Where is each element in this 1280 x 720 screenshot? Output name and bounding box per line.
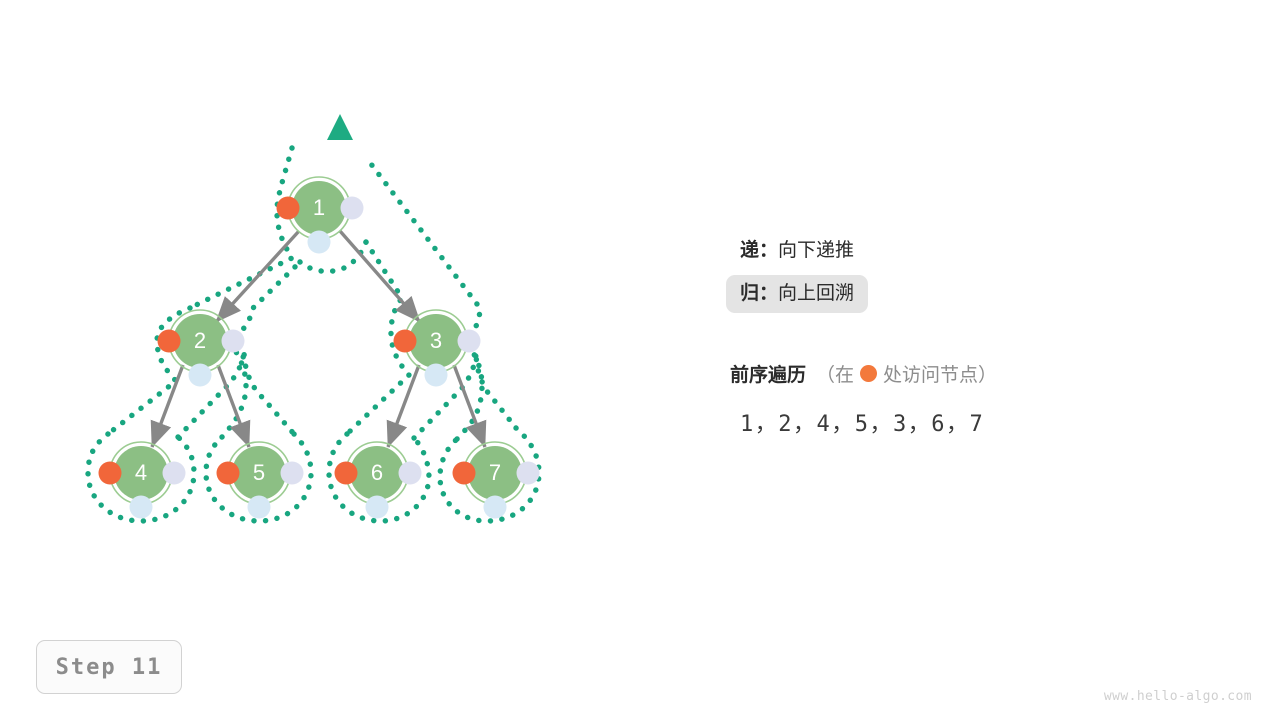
- right-dot-3: [458, 330, 481, 353]
- bottom-dot-3: [425, 364, 448, 387]
- legend-descend-text: 向下递推: [778, 240, 854, 261]
- legend-ascend-key: 归：: [740, 283, 778, 304]
- right-dot-5: [281, 462, 304, 485]
- visit-dot-6: [335, 462, 358, 485]
- visit-dot-3: [394, 330, 417, 353]
- bottom-dot-5: [248, 496, 271, 519]
- tree-node-5[interactable]: [217, 442, 304, 519]
- bottom-dot-6: [366, 496, 389, 519]
- legend-row-descend: 递：向下递推: [726, 232, 868, 270]
- traversal-panel: 前序遍历 （在 处访问节点） 1，2，4，5，3，6，7: [730, 360, 1160, 438]
- visit-dot-4: [99, 462, 122, 485]
- right-dot-6: [399, 462, 422, 485]
- right-dot-2: [222, 330, 245, 353]
- legend-panel: 递：向下递推 归：向上回溯: [726, 232, 1146, 313]
- visit-dot-1: [277, 197, 300, 220]
- bottom-dot-7: [484, 496, 507, 519]
- site-watermark: www.hello-algo.com: [1104, 689, 1252, 704]
- traversal-sequence: 1，2，4，5，3，6，7: [740, 406, 1160, 438]
- tree-nodes: [99, 177, 540, 519]
- bottom-dot-4: [130, 496, 153, 519]
- right-dot-7: [517, 462, 540, 485]
- right-dot-4: [163, 462, 186, 485]
- legend-descend-key: 递：: [740, 240, 778, 261]
- right-dot-1: [341, 197, 364, 220]
- legend-ascend-text: 向上回溯: [778, 283, 854, 304]
- tree-node-7[interactable]: [453, 442, 540, 519]
- visit-dot-icon: [860, 365, 877, 382]
- cursor-triangle-up-icon: [327, 114, 353, 140]
- tree-node-6[interactable]: [335, 442, 422, 519]
- bottom-dot-2: [189, 364, 212, 387]
- bottom-dot-1: [308, 231, 331, 254]
- edge-3-6: [388, 365, 419, 447]
- tree-node-4[interactable]: [99, 442, 186, 519]
- diagram-canvas: 1 2 3 4 5 6 7 递：向下递推 归：向上回溯 前序遍历 （在 处访问节…: [0, 0, 1280, 720]
- traversal-note-close: 处访问节点）: [883, 360, 997, 387]
- visit-dot-5: [217, 462, 240, 485]
- legend-row-ascend: 归：向上回溯: [726, 275, 868, 313]
- visit-dot-2: [158, 330, 181, 353]
- traversal-title: 前序遍历 （在 处访问节点）: [730, 360, 1160, 387]
- edge-1-3: [340, 231, 420, 322]
- traversal-note-open: （在: [816, 360, 854, 387]
- visit-dot-7: [453, 462, 476, 485]
- traversal-name: 前序遍历: [730, 360, 806, 387]
- step-badge: Step 11: [36, 640, 182, 694]
